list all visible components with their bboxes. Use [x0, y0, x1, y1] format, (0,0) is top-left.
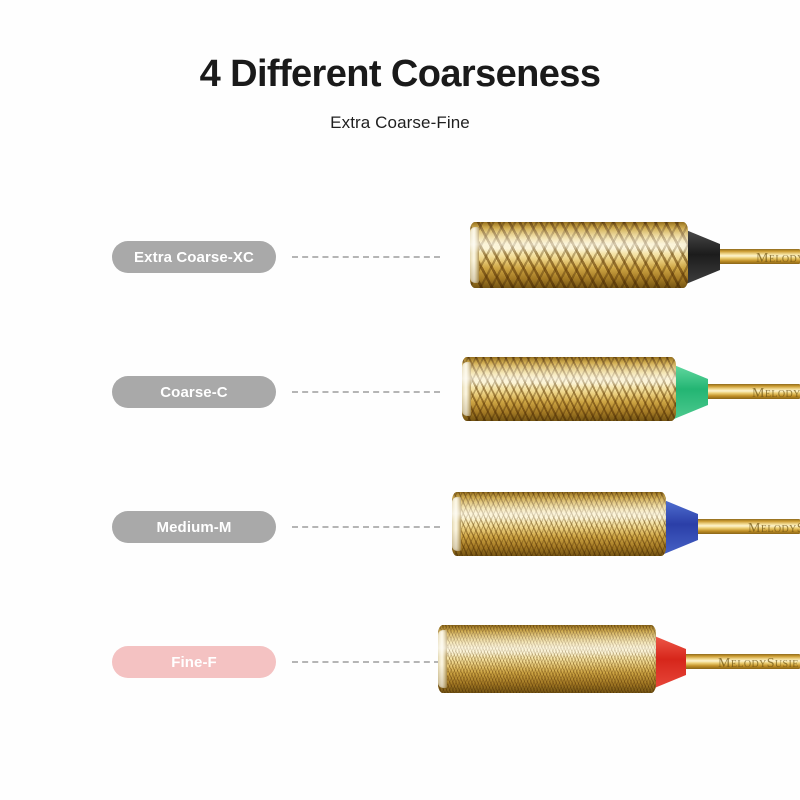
drill-bit-fine: MelodySusie	[0, 595, 800, 735]
coarseness-infographic: 4 Different Coarseness Extra Coarse-Fine…	[0, 0, 800, 800]
bit-collar-green	[674, 365, 708, 419]
bit-head	[470, 222, 688, 288]
bit-shank	[668, 654, 800, 669]
grit-texture	[470, 222, 688, 288]
drill-bit-coarse: MelodySusie	[0, 325, 800, 465]
coarseness-row: Extra Coarse-XC MelodySusie	[0, 190, 800, 330]
coarseness-row: Medium-M MelodySusie	[0, 460, 800, 600]
bit-collar-black	[686, 230, 720, 284]
bit-collar-red	[652, 635, 686, 689]
bit-head	[438, 625, 656, 693]
coarseness-row: Fine-F MelodySusie	[0, 595, 800, 735]
drill-bit-extra-coarse: MelodySusie	[0, 190, 800, 330]
bit-head	[452, 492, 666, 556]
grit-texture	[462, 357, 676, 421]
grit-texture	[438, 625, 656, 693]
drill-bit-medium: MelodySusie	[0, 460, 800, 600]
coarseness-row-list: Extra Coarse-XC MelodySusie Coarse-C	[0, 0, 800, 800]
grit-texture	[452, 492, 666, 556]
coarseness-row: Coarse-C MelodySusie	[0, 325, 800, 465]
bit-head	[462, 357, 676, 421]
bit-collar-blue	[664, 500, 698, 554]
